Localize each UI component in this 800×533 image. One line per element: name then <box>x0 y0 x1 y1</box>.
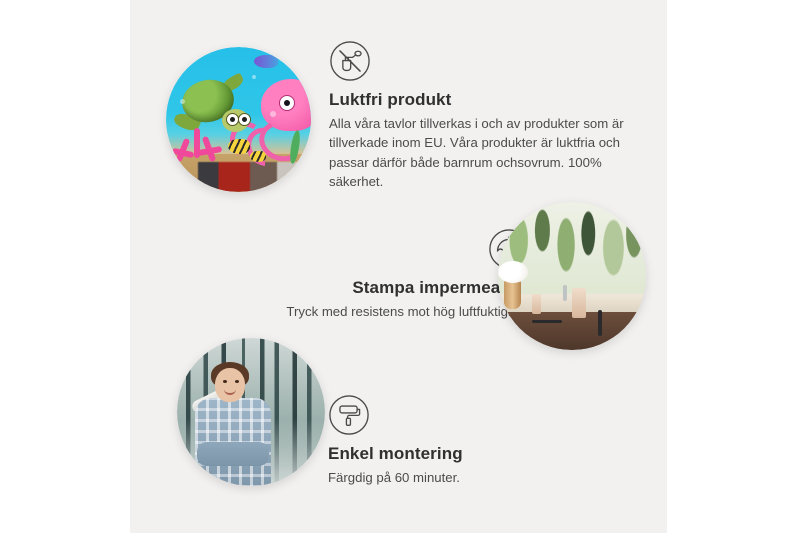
cabinet-handle <box>532 320 562 323</box>
yellow-fish <box>228 139 250 154</box>
person-eye <box>223 380 227 383</box>
feature-description: Färgdig på 60 minuter. <box>328 468 604 487</box>
no-odor-spray-bottle-icon <box>329 40 371 82</box>
content-panel: Luktfri produkt Alla våra tavlor tillver… <box>130 0 667 533</box>
flower-vase <box>504 279 521 309</box>
bubble <box>252 75 256 79</box>
feature-title: Luktfri produkt <box>329 89 629 110</box>
feature-waterproof-print: Stampa impermeabile Tryck med resistens … <box>198 228 530 321</box>
yellow-fish <box>250 151 266 162</box>
bubble <box>180 99 185 104</box>
blue-fish <box>254 55 278 68</box>
person-folded-arms <box>197 442 269 466</box>
toiletry-bottle <box>572 288 586 318</box>
feature-title: Stampa impermeabile <box>198 277 530 298</box>
bathroom-vanity-image <box>498 202 646 350</box>
octopus-eye <box>279 95 295 111</box>
feature-easy-mounting: Enkel montering Färgdig på 60 minuter. <box>328 394 604 487</box>
turtle-eye <box>238 113 251 126</box>
bubble <box>270 111 276 117</box>
person-face <box>215 368 245 402</box>
product-photo-sea-mural[interactable] <box>166 47 311 192</box>
product-photo-bathroom-vanity[interactable] <box>498 202 646 350</box>
toiletry-bottle <box>532 294 541 314</box>
product-photo-forest-mural[interactable] <box>177 338 325 486</box>
feature-description: Tryck med resistens mot hög luftfuktighe… <box>198 302 530 321</box>
feature-title: Enkel montering <box>328 443 604 464</box>
feature-odor-free: Luktfri produkt Alla våra tavlor tillver… <box>329 40 629 191</box>
faucet <box>563 285 567 301</box>
cabinet-handle <box>598 310 602 336</box>
product-feature-banner: Luktfri produkt Alla våra tavlor tillver… <box>0 0 800 533</box>
person-eye <box>235 380 239 383</box>
coral <box>172 126 226 170</box>
forest-mural-image <box>177 338 325 486</box>
paint-roller-icon <box>328 394 370 436</box>
sea-mural-image <box>166 47 311 192</box>
feature-description: Alla våra tavlor tillverkas i och av pro… <box>329 114 629 191</box>
